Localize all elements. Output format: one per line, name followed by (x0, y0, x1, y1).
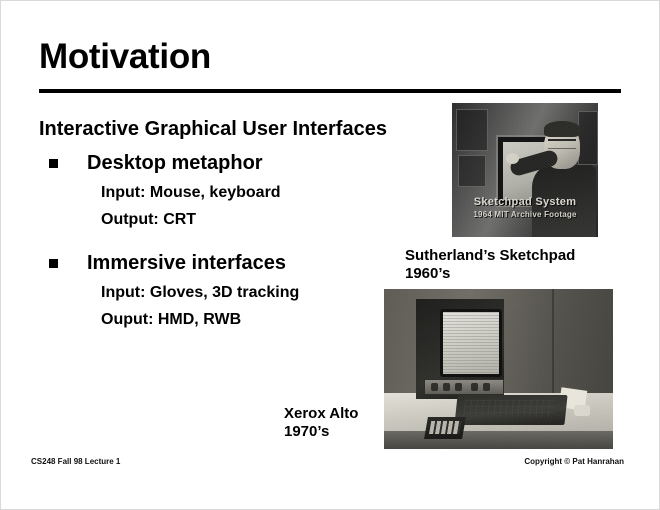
sketchpad-caption-line1: Sutherland’s Sketchpad (405, 247, 575, 265)
alto-knob (483, 383, 490, 391)
sketchpad-caption-line2: 1960’s (405, 265, 575, 283)
alto-wall-seam (552, 289, 554, 397)
alto-mouse (574, 405, 590, 416)
outline-bullet-label: Immersive interfaces (87, 252, 286, 274)
alto-desk-edge (384, 431, 613, 449)
alto-caption-line1: Xerox Alto (284, 405, 358, 423)
alto-screen-text-lines (443, 312, 499, 374)
title-divider (39, 89, 621, 93)
outline-group-spacer (39, 239, 439, 253)
footer-copyright: Copyright © Pat Hanrahan (524, 457, 624, 466)
sketchpad-photo: Sketchpad System 1964 MIT Archive Footag… (452, 103, 598, 237)
outline-body: Interactive Graphical User Interfaces De… (39, 119, 439, 339)
alto-crt-screen (440, 309, 502, 377)
square-bullet-icon (49, 159, 58, 168)
alto-knob (455, 383, 462, 391)
outline-detail-desktop-input: Input: Mouse, keyboard (101, 185, 439, 201)
alto-caption-line2: 1970’s (284, 423, 358, 441)
sketchpad-equipment-panel (578, 111, 598, 165)
xerox-alto-photo (384, 289, 613, 449)
sketchpad-caption: Sutherland’s Sketchpad 1960’s (405, 247, 575, 282)
sketchpad-equipment-panel (456, 109, 488, 151)
sketchpad-operator-hand (506, 153, 519, 164)
xerox-alto-caption: Xerox Alto 1970’s (284, 405, 358, 440)
square-bullet-icon (49, 259, 58, 268)
page-title: Motivation (39, 39, 211, 74)
footer-course-info: CS248 Fall 98 Lecture 1 (31, 457, 120, 466)
sketchpad-overlay-text: Sketchpad System 1964 MIT Archive Footag… (452, 197, 598, 219)
sketchpad-operator-glasses (548, 139, 576, 149)
alto-control-panel (424, 379, 504, 395)
outline-bullet-desktop-metaphor: Desktop metaphor (87, 153, 439, 173)
outline-bullet-immersive-interfaces: Immersive interfaces (87, 253, 439, 273)
outline-bullet-label: Desktop metaphor (87, 152, 263, 174)
alto-knob (471, 383, 478, 391)
alto-chord-keyset (424, 417, 466, 439)
alto-chord-keys (429, 421, 461, 434)
outline-heading: Interactive Graphical User Interfaces (39, 119, 439, 139)
alto-knob (431, 383, 438, 391)
sketchpad-operator-hair (544, 121, 580, 137)
outline-detail-desktop-output: Output: CRT (101, 212, 439, 228)
slide: Motivation Interactive Graphical User In… (0, 0, 660, 510)
sketchpad-equipment-panel (458, 155, 486, 187)
sketchpad-overlay-title: Sketchpad System (452, 197, 598, 209)
alto-knob (443, 383, 450, 391)
alto-keyboard-keys (463, 400, 555, 417)
sketchpad-overlay-subtitle: 1964 MIT Archive Footage (452, 211, 598, 219)
alto-keyboard (454, 395, 567, 425)
